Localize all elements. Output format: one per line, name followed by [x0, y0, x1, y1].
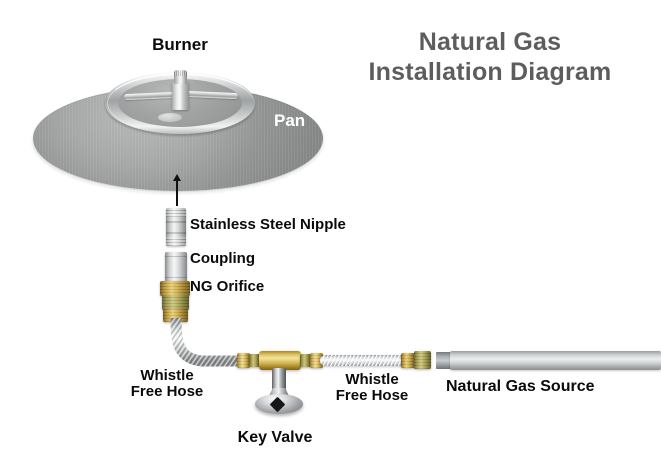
- whistle-free-hose-left-label: Whistle Free Hose: [131, 368, 204, 400]
- burner-hub: [172, 82, 189, 110]
- pan-label: Pan: [274, 112, 305, 130]
- hose-left-line-2: Free Hose: [131, 384, 204, 400]
- coupling-label: Coupling: [190, 251, 255, 267]
- stainless-steel-nipple-label: Stainless Steel Nipple: [190, 217, 346, 233]
- gas-source-nut-right: [414, 351, 431, 369]
- flow-arrow-head: [173, 174, 181, 181]
- whistle-free-hose-right: [320, 355, 405, 366]
- flow-arrow-shaft: [176, 180, 178, 206]
- hose-right-line-2: Free Hose: [336, 388, 409, 404]
- stainless-steel-nipple: [166, 208, 186, 246]
- coupling: [165, 252, 187, 282]
- gas-source-nut-left: [401, 353, 415, 368]
- hose-right-line-1: Whistle: [336, 372, 409, 388]
- natural-gas-source-pipe: [450, 351, 661, 370]
- burner-hub-threads: [174, 71, 187, 76]
- whistle-free-hose-right-label: Whistle Free Hose: [336, 372, 409, 404]
- hose-left-line-1: Whistle: [131, 368, 204, 384]
- title-line-2: Installation Diagram: [369, 58, 612, 88]
- ng-orifice-hex-top: [160, 281, 190, 296]
- diagram-title: Natural Gas Installation Diagram: [369, 28, 612, 87]
- natural-gas-source-label: Natural Gas Source: [446, 378, 595, 395]
- key-valve-label: Key Valve: [238, 429, 313, 446]
- burner-port: [158, 113, 182, 122]
- ng-orifice-hex-middle: [162, 295, 189, 310]
- title-line-1: Natural Gas: [369, 28, 612, 58]
- diagram-canvas: Natural Gas Installation Diagram Pan Bur…: [0, 0, 661, 472]
- burner-label: Burner: [152, 36, 208, 54]
- ng-orifice-label: NG Orifice: [190, 279, 264, 295]
